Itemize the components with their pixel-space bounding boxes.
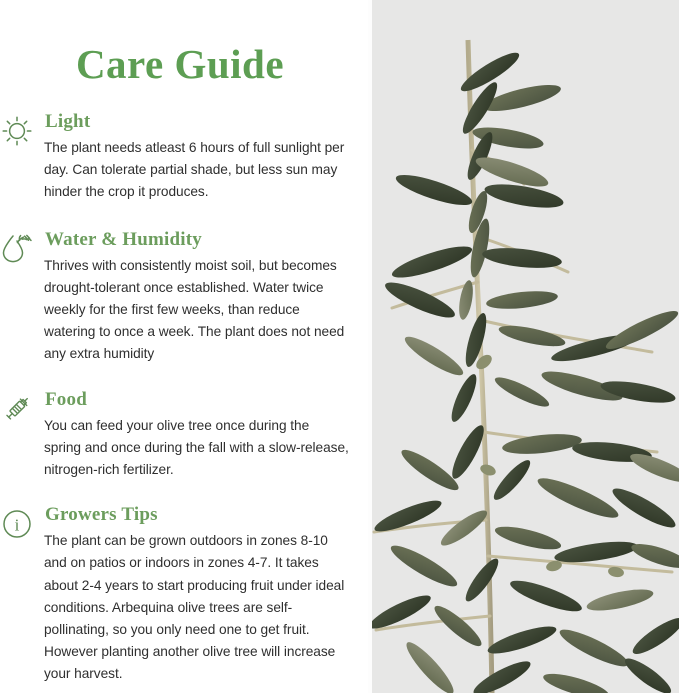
- water-drop-sprout-icon: [0, 230, 36, 268]
- svg-text:i: i: [15, 516, 20, 535]
- info-circle-icon: i: [0, 505, 36, 543]
- text-panel: Care Guide: [0, 0, 372, 693]
- care-guide-page: Care Guide: [0, 0, 679, 693]
- page-title: Care Guide: [0, 40, 360, 88]
- section-body: You can feed your olive tree once during…: [44, 415, 349, 482]
- section-body: The plant can be grown outdoors in zones…: [44, 530, 349, 685]
- section-food: Food You can feed your olive tree once d…: [0, 388, 372, 482]
- sun-icon: [0, 112, 36, 150]
- section-body: The plant needs atleast 6 hours of full …: [44, 137, 349, 204]
- section-heading: Water & Humidity: [45, 228, 372, 252]
- section-water-humidity: Water & Humidity Thrives with consistent…: [0, 228, 372, 366]
- section-heading: Light: [45, 110, 372, 134]
- section-heading: Food: [45, 388, 372, 412]
- section-body: Thrives with consistently moist soil, bu…: [44, 255, 349, 366]
- care-sections-list: Light The plant needs atleast 6 hours of…: [0, 110, 372, 686]
- olive-tree-branch-photo: [372, 0, 679, 693]
- syringe-icon: [0, 390, 36, 428]
- section-light: Light The plant needs atleast 6 hours of…: [0, 110, 372, 204]
- section-heading: Growers Tips: [45, 503, 372, 527]
- section-growers-tips: i Growers Tips The plant can be grown ou…: [0, 503, 372, 685]
